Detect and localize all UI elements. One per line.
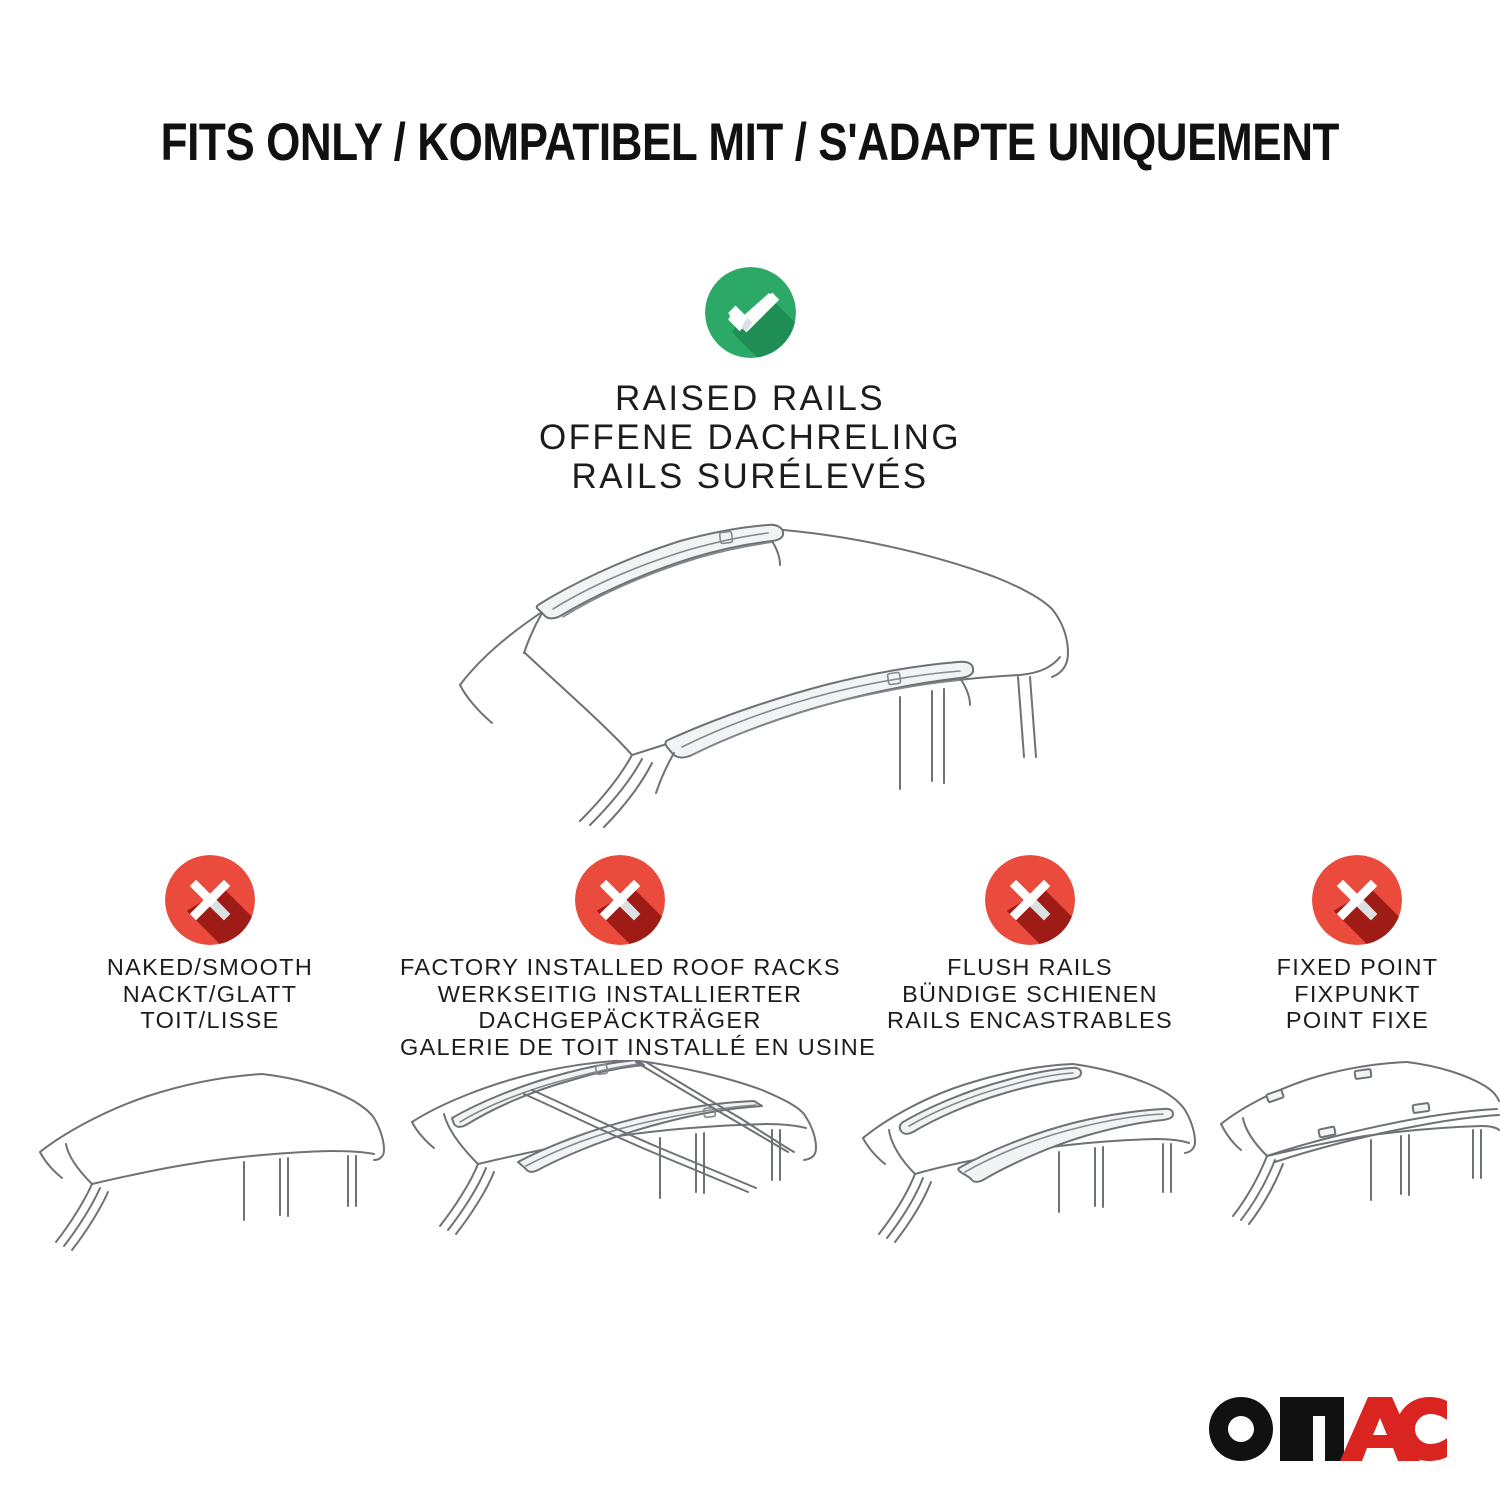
- caption-line-2: NACKT/GLATT: [30, 981, 390, 1008]
- caption-line-2: BÜNDIGE SCHIENEN: [855, 981, 1205, 1008]
- car-roof-fixed-point-illustration: [1215, 1060, 1500, 1275]
- caption-line-1: FACTORY INSTALLED ROOF RACKS: [400, 954, 840, 981]
- x-circle-icon: [985, 855, 1075, 945]
- caption-line-1: FLUSH RAILS: [855, 954, 1205, 981]
- car-roof-flush-rails-illustration: [855, 1060, 1205, 1275]
- caption-line-3: DACHGEPÄCKTRÄGER: [400, 1007, 840, 1034]
- page-title: FITS ONLY / KOMPATIBEL MIT / S'ADAPTE UN…: [0, 112, 1500, 173]
- x-circle-icon: [1312, 855, 1402, 945]
- caption-line-1: NAKED/SMOOTH: [30, 954, 390, 981]
- car-roof-factory-racks-illustration: [400, 1060, 840, 1275]
- omac-logo: [1208, 1396, 1448, 1462]
- approved-caption-line-1: RAISED RAILS: [250, 379, 1250, 418]
- check-circle-icon: [705, 267, 796, 358]
- caption-line-2: WERKSEITIG INSTALLIERTER: [400, 981, 840, 1008]
- rejected-caption-flush-rails: FLUSH RAILS BÜNDIGE SCHIENEN RAILS ENCAS…: [855, 954, 1205, 1034]
- caption-line-3: POINT FIXE: [1215, 1007, 1500, 1034]
- rejected-caption-naked-smooth: NAKED/SMOOTH NACKT/GLATT TOIT/LISSE: [30, 954, 390, 1034]
- caption-line-1: FIXED POINT: [1215, 954, 1500, 981]
- x-circle-icon: [575, 855, 665, 945]
- caption-line-4: GALERIE DE TOIT INSTALLÉ EN USINE: [400, 1034, 840, 1061]
- approved-caption-line-2: OFFENE DACHRELING: [250, 418, 1250, 457]
- caption-line-3: TOIT/LISSE: [30, 1007, 390, 1034]
- approved-caption: RAISED RAILS OFFENE DACHRELING RAILS SUR…: [250, 379, 1250, 496]
- caption-line-3: RAILS ENCASTRABLES: [855, 1007, 1205, 1034]
- car-roof-raised-rails-illustration: [420, 505, 1090, 835]
- approved-caption-line-3: RAILS SURÉLEVÉS: [250, 457, 1250, 496]
- page-title-text: FITS ONLY / KOMPATIBEL MIT / S'ADAPTE UN…: [161, 112, 1339, 173]
- x-circle-icon: [165, 855, 255, 945]
- rejected-caption-fixed-point: FIXED POINT FIXPUNKT POINT FIXE: [1215, 954, 1500, 1034]
- caption-line-2: FIXPUNKT: [1215, 981, 1500, 1008]
- rejected-caption-factory-roof-racks: FACTORY INSTALLED ROOF RACKS WERKSEITIG …: [400, 954, 840, 1060]
- car-roof-naked-smooth-illustration: [30, 1060, 390, 1275]
